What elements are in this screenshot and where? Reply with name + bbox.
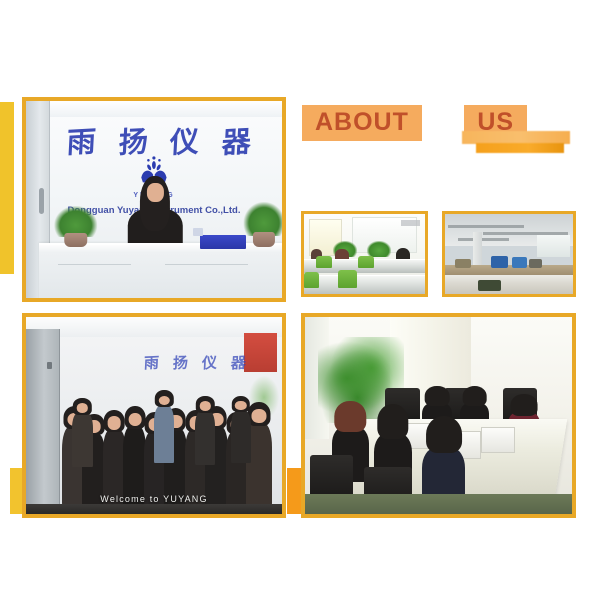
reception-ceiling (26, 101, 282, 117)
decor-white-gap (286, 313, 301, 327)
person-hair (335, 401, 366, 433)
page-title-line1: ABOUT (302, 105, 422, 141)
reception-plant-left (54, 207, 98, 246)
logo-char-3: 仪 (169, 119, 200, 162)
workshop-machine-1 (491, 256, 508, 269)
person-body (231, 411, 251, 463)
photo-office[interactable] (301, 211, 428, 297)
logo-char-4: 器 (221, 119, 252, 162)
reception-blue-folder (200, 235, 246, 249)
photo-team-group-image: 雨 扬 仪 器 (26, 317, 282, 514)
group-photo-caption: Welcome to YUYANG (26, 494, 282, 504)
logo-char-1: 雨 (66, 119, 97, 162)
photo-meeting-room-image (305, 317, 572, 514)
person-hair (140, 176, 170, 231)
person-hair (425, 386, 450, 406)
office-chair-4 (304, 272, 319, 288)
person-body (72, 413, 92, 467)
photo-reception[interactable]: 雨 扬 仪 器 YUYANG Dongguan Yuyang Inst (22, 97, 286, 302)
office-chair-3 (338, 270, 357, 288)
workshop-equipment-front (478, 280, 501, 291)
person-hair (104, 410, 125, 433)
workshop-machine-3 (529, 259, 542, 269)
about-us-page: 雨 扬 仪 器 YUYANG Dongguan Yuyang Inst (0, 0, 600, 600)
office-wall-sign (401, 220, 420, 226)
photo-workshop[interactable] (442, 211, 576, 297)
reception-plant-right (244, 203, 282, 246)
workshop-machine-4 (455, 259, 470, 269)
person-hair (196, 396, 214, 412)
decor-ribbon (462, 131, 570, 157)
group-floor (26, 504, 282, 514)
workshop-machine-2 (512, 257, 527, 268)
plant-pot (64, 233, 87, 246)
workshop-beam-1 (448, 225, 525, 228)
group-people (26, 317, 282, 514)
photo-reception-image: 雨 扬 仪 器 YUYANG Dongguan Yuyang Inst (26, 101, 282, 298)
photo-office-image (304, 214, 425, 294)
decor-ribbon-bottom-bar (476, 143, 564, 153)
person-hair (155, 390, 173, 407)
workshop-beam-3 (458, 238, 509, 241)
person-hair (510, 394, 537, 416)
group-person-back (195, 398, 215, 465)
person-hair (426, 416, 462, 454)
person-hair (462, 386, 487, 406)
decor-bar-left-tall (0, 102, 14, 274)
office-plant-2 (367, 241, 391, 257)
photo-meeting-room[interactable] (301, 313, 576, 518)
person-hair (377, 404, 408, 439)
plant-leaves (54, 206, 98, 237)
person-body (154, 406, 174, 463)
group-person-back (154, 392, 174, 463)
group-person-back (72, 400, 92, 467)
meeting-floor (305, 494, 572, 514)
plant-pot (253, 232, 275, 247)
workshop-bench (445, 275, 573, 294)
plant-leaves (244, 202, 282, 236)
person-hair (124, 406, 145, 430)
photo-team-group[interactable]: 雨 扬 仪 器 (22, 313, 286, 518)
person-hair (73, 398, 91, 414)
office-desk-row-front (304, 275, 425, 294)
photo-workshop-image (445, 214, 573, 294)
workshop-window (537, 235, 570, 257)
group-person-back (231, 398, 251, 463)
decor-block-bottom-middle (287, 468, 301, 514)
reception-desk (39, 243, 282, 298)
person-hair (232, 396, 250, 412)
person-body (195, 411, 215, 465)
reception-staff-person (131, 180, 180, 251)
office-chair-2 (358, 256, 374, 268)
meeting-laptop-3 (481, 427, 515, 453)
office-chair-1 (316, 256, 332, 268)
